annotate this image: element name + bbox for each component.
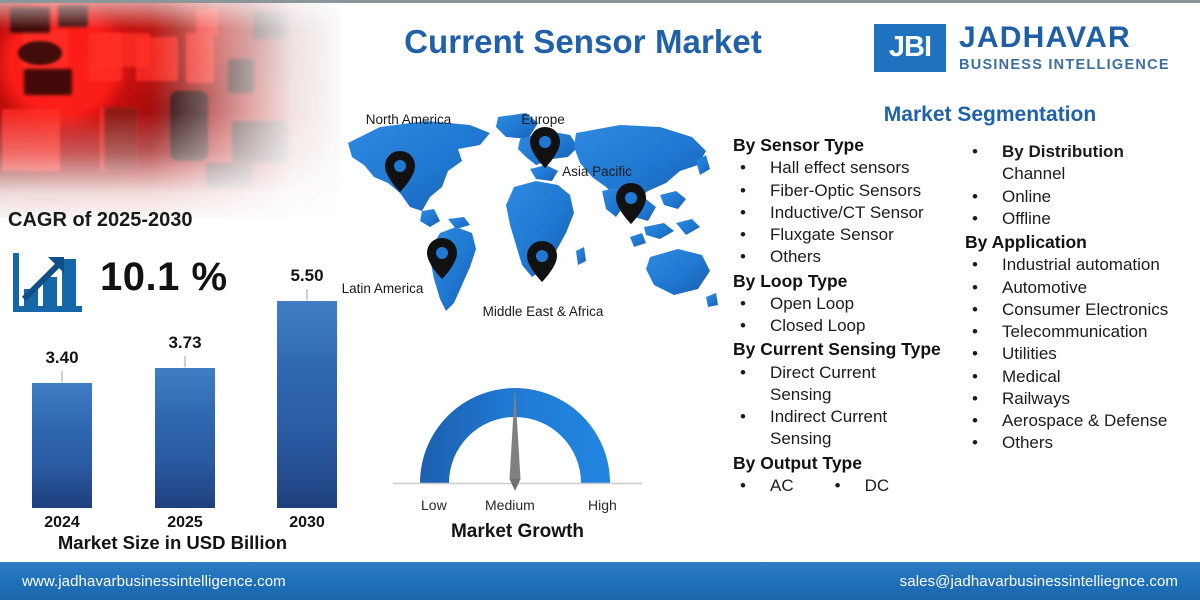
bullet-icon: • — [733, 180, 770, 202]
list-item[interactable]: • AC • DC — [733, 475, 978, 497]
list-item[interactable]: •Industrial automation — [965, 254, 1200, 276]
seg-item-label: Fiber-Optic Sensors — [770, 180, 921, 202]
seg-item-continuation: Sensing — [733, 384, 978, 406]
bullet-icon: • — [965, 321, 1002, 343]
list-item[interactable]: •Telecommunication — [965, 321, 1200, 343]
seg-item-continuation: Sensing — [733, 428, 978, 450]
seg-heading-distribution-channel: By Distribution — [1002, 141, 1124, 163]
infographic-page: Current Sensor Market JBI JADHAVAR BUSIN… — [0, 0, 1200, 600]
bullet-icon: • — [965, 343, 1002, 365]
list-item[interactable]: •Railways — [965, 388, 1200, 410]
segmentation-title: Market Segmentation — [865, 103, 1115, 127]
seg-item-label: Consumer Electronics — [1002, 299, 1168, 321]
footer-bar: www.jadhavarbusinessintelligence.com sal… — [0, 562, 1200, 600]
seg-item-label: Aerospace & Defense — [1002, 410, 1167, 432]
bullet-icon: • — [733, 202, 770, 224]
seg-item-label: Indirect Current — [770, 406, 887, 428]
seg-item-label: Industrial automation — [1002, 254, 1160, 276]
list-item[interactable]: •Fluxgate Sensor — [733, 224, 978, 246]
map-label-europe: Europe — [488, 112, 598, 127]
segmentation-column-2: •By Distribution Channel •Online •Offlin… — [965, 141, 1200, 455]
bullet-icon: • — [965, 186, 1002, 208]
list-item[interactable]: •Aerospace & Defense — [965, 410, 1200, 432]
bullet-icon: • — [965, 208, 1002, 230]
list-item[interactable]: •Consumer Electronics — [965, 299, 1200, 321]
map-label-latin-america: Latin America — [325, 281, 440, 296]
gauge-tick-low: Low — [421, 497, 447, 513]
logo-mark-text: JBI — [889, 31, 931, 64]
gauge-tick-medium: Medium — [485, 497, 535, 513]
seg-heading-sensor-type: By Sensor Type — [733, 134, 978, 157]
seg-item-label-ac: AC — [770, 475, 794, 497]
bullet-icon: • — [733, 406, 770, 428]
logo-wordmark: JADHAVAR BUSINESS INTELLIGENCE — [959, 23, 1170, 73]
seg-item-label-dc: DC — [865, 475, 890, 497]
seg-item-label: Inductive/CT Sensor — [770, 202, 924, 224]
bullet-icon: • — [965, 277, 1002, 299]
world-map-chart: North America Europe Asia Pacific Latin … — [330, 99, 720, 369]
bullet-icon: • — [965, 432, 1002, 454]
logo-tagline: BUSINESS INTELLIGENCE — [959, 58, 1170, 73]
seg-item-label: Others — [1002, 432, 1053, 454]
bar-rect-2030 — [277, 301, 337, 508]
list-item[interactable]: •Automotive — [965, 277, 1200, 299]
bar-value-2030: 5.50 — [290, 266, 323, 286]
seg-item-continuation: Channel — [965, 163, 1200, 185]
bullet-icon: • — [733, 315, 770, 337]
seg-item-label: Fluxgate Sensor — [770, 224, 894, 246]
seg-item-label: Others — [770, 246, 821, 268]
logo-mark-icon: JBI — [874, 24, 946, 72]
seg-item-label: Railways — [1002, 388, 1070, 410]
bullet-icon: • — [733, 224, 770, 246]
gauge-svg — [385, 371, 650, 501]
list-item[interactable]: •Inductive/CT Sensor — [733, 202, 978, 224]
bullet-icon: • — [965, 388, 1002, 410]
bullet-icon: • — [965, 254, 1002, 276]
seg-item-label: Direct Current — [770, 362, 876, 384]
logo-company-name: JADHAVAR — [959, 23, 1170, 53]
list-item[interactable]: •Offline — [965, 208, 1200, 230]
list-item[interactable]: •Others — [965, 432, 1200, 454]
seg-item-label: Hall effect sensors — [770, 157, 910, 179]
market-growth-gauge-chart: Low Medium High Market Growth — [385, 371, 650, 546]
bullet-icon: • — [733, 293, 770, 315]
seg-item-label: Medical — [1002, 366, 1061, 388]
list-item[interactable]: •Open Loop — [733, 293, 978, 315]
list-item[interactable]: •Fiber-Optic Sensors — [733, 180, 978, 202]
bullet-icon: • — [733, 475, 770, 497]
bar-category-2024: 2024 — [44, 514, 80, 532]
seg-item-label: Offline — [1002, 208, 1051, 230]
seg-item-label: Closed Loop — [770, 315, 865, 337]
bar-rect-2025 — [155, 368, 215, 508]
page-title: Current Sensor Market — [348, 23, 818, 61]
gauge-title: Market Growth — [385, 521, 650, 543]
list-item[interactable]: •Utilities — [965, 343, 1200, 365]
bullet-icon: • — [733, 246, 770, 268]
footer-website-link[interactable]: www.jadhavarbusinessintelligence.com — [22, 573, 286, 590]
list-item[interactable]: •Indirect Current — [733, 406, 978, 428]
bullet-icon: • — [965, 410, 1002, 432]
seg-item-label: Telecommunication — [1002, 321, 1148, 343]
list-item[interactable]: •By Distribution — [965, 141, 1200, 163]
bar-category-2030: 2030 — [289, 514, 325, 532]
seg-heading-current-sensing-type: By Current Sensing Type — [733, 338, 978, 361]
seg-item-label: Open Loop — [770, 293, 854, 315]
list-item[interactable]: •Others — [733, 246, 978, 268]
list-item[interactable]: •Direct Current — [733, 362, 978, 384]
cagr-label: CAGR of 2025-2030 — [8, 209, 193, 232]
bullet-icon: • — [733, 157, 770, 179]
bullet-icon: • — [965, 366, 1002, 388]
bar-chart-axis-title: Market Size in USD Billion — [0, 532, 345, 554]
gauge-tick-high: High — [588, 497, 617, 513]
bar-rect-2024 — [32, 383, 92, 508]
footer-email-link[interactable]: sales@jadhavarbusinessintelliegnce.com — [900, 573, 1178, 590]
bullet-icon: • — [828, 475, 865, 497]
pcb-background-image — [0, 3, 340, 218]
bullet-icon: • — [965, 141, 1002, 163]
seg-item-label: Utilities — [1002, 343, 1057, 365]
seg-item-label: Online — [1002, 186, 1051, 208]
bullet-icon: • — [965, 299, 1002, 321]
seg-heading-application: By Application — [965, 231, 1200, 254]
bullet-icon: • — [733, 362, 770, 384]
bar-category-2025: 2025 — [167, 514, 203, 532]
company-logo[interactable]: JBI JADHAVAR BUSINESS INTELLIGENCE — [874, 23, 1170, 73]
bar-value-2024: 3.40 — [45, 348, 78, 368]
seg-heading-loop-type: By Loop Type — [733, 270, 978, 293]
bar-value-2025: 3.73 — [168, 333, 201, 353]
list-item[interactable]: •Medical — [965, 366, 1200, 388]
list-item[interactable]: •Hall effect sensors — [733, 157, 978, 179]
list-item[interactable]: •Online — [965, 186, 1200, 208]
market-size-bar-chart: 3.40 2024 3.73 2025 5.50 2030 Market Siz… — [0, 261, 345, 546]
map-label-north-america: North America — [336, 112, 481, 127]
seg-item-label: Automotive — [1002, 277, 1087, 299]
list-item[interactable]: •Closed Loop — [733, 315, 978, 337]
seg-heading-output-type: By Output Type — [733, 452, 978, 475]
map-label-middle-east-africa: Middle East & Africa — [478, 303, 608, 321]
map-label-asia-pacific: Asia Pacific — [542, 164, 652, 179]
segmentation-column-1: By Sensor Type •Hall effect sensors •Fib… — [733, 133, 978, 497]
